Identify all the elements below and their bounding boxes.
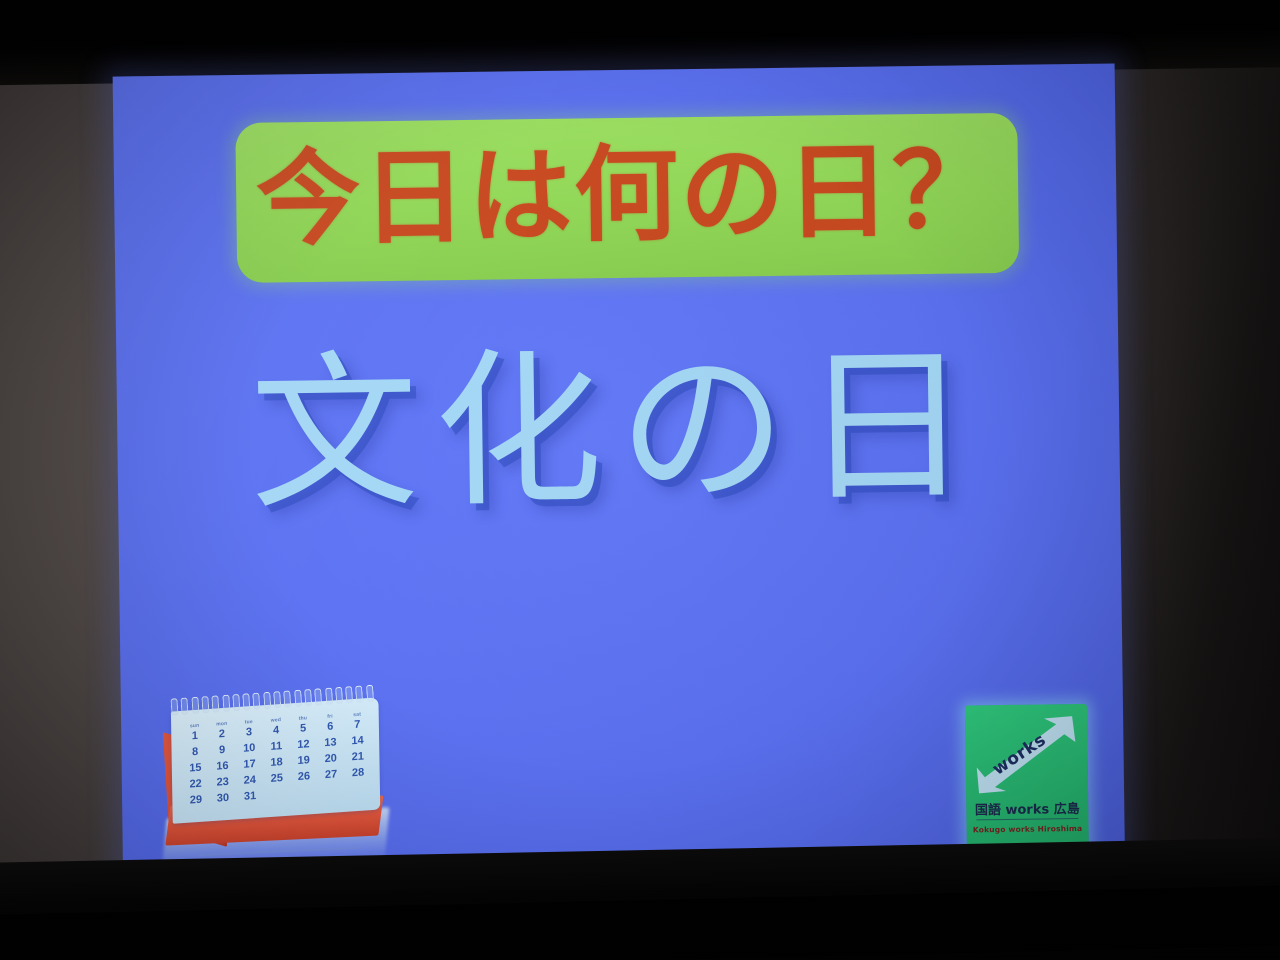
calendar-spiral-ring xyxy=(325,688,333,705)
calendar-day-number: 30 xyxy=(209,790,236,808)
logo-card: works 国語 works 広島 Kokugo works Hiroshima xyxy=(965,704,1089,854)
calendar-day-number: 23 xyxy=(209,774,236,792)
calendar-spiral-ring xyxy=(304,689,312,706)
calendar-day-number xyxy=(345,781,372,799)
calendar-spiral-ring xyxy=(355,685,363,702)
calendar-day-number: 5 xyxy=(290,721,317,739)
calendar-day-number: 20 xyxy=(317,751,344,769)
calendar-spiral-ring xyxy=(283,690,291,707)
calendar-day-number: 8 xyxy=(181,744,208,762)
calendar-day-number: 17 xyxy=(236,756,263,774)
calendar-spiral-ring xyxy=(366,685,374,702)
calendar-day-number: 22 xyxy=(182,776,209,794)
calendar-spiral-ring xyxy=(294,690,302,707)
calendar-day-number: 6 xyxy=(317,719,344,737)
calendar-day-number: 4 xyxy=(262,722,289,740)
calendar-day-number: 2 xyxy=(208,726,235,744)
calendar-spiral-ring xyxy=(222,695,230,712)
calendar-day-number: 31 xyxy=(236,788,263,806)
calendar-spiral-ring xyxy=(232,694,240,711)
calendar-day-number: 28 xyxy=(344,765,371,783)
calendar-day-number: 16 xyxy=(209,758,236,776)
calendar-day-number: 27 xyxy=(317,767,344,785)
logo-divider xyxy=(976,818,1078,820)
calendar-spiral-ring xyxy=(191,697,199,714)
main-heading-block: 文化の日 xyxy=(116,329,1120,530)
calendar-spiral-ring xyxy=(273,691,281,708)
calendar-spiral-ring xyxy=(345,686,353,703)
calendar-day-number: 9 xyxy=(209,742,236,760)
calendar-page: sunmontuewedthufrisat 123456789101112131… xyxy=(171,697,380,823)
calendar-day-number: 12 xyxy=(290,737,317,755)
calendar-spiral-ring xyxy=(314,688,322,705)
calendar-day-number: 7 xyxy=(344,717,371,735)
calendar-day-number: 13 xyxy=(317,735,344,753)
projection-screen: 今日は何の日？ 文化の日 sunmontuewedthufrisat 12345… xyxy=(113,63,1126,904)
calendar-day-number xyxy=(291,784,318,802)
calendar-day-number xyxy=(263,786,290,804)
calendar-spiral-ring xyxy=(253,692,261,709)
calendar-day-number: 26 xyxy=(290,768,317,786)
logo-japanese-name: 国語 works 広島 xyxy=(966,798,1088,819)
slide-title: 今日は何の日？ xyxy=(256,138,999,252)
calendar-day-number: 19 xyxy=(290,753,317,771)
calendar-day-number: 25 xyxy=(263,770,290,788)
logo-romaji-name: Kokugo works Hiroshima xyxy=(966,824,1088,835)
screenshot-root: 今日は何の日？ 文化の日 sunmontuewedthufrisat 12345… xyxy=(0,0,1280,960)
calendar-spiral-ring xyxy=(181,697,189,714)
calendar-day-number: 24 xyxy=(236,772,263,790)
calendar-day-number: 14 xyxy=(344,733,371,751)
calendar-day-number: 1 xyxy=(181,728,208,746)
calendar-day-number: 10 xyxy=(236,740,263,758)
main-heading-text: 文化の日 xyxy=(116,329,1120,530)
calendar-day-number: 11 xyxy=(263,738,290,756)
calendar-spiral-ring xyxy=(170,698,178,715)
calendar-spiral-ring xyxy=(201,696,209,713)
calendar-day-number: 29 xyxy=(182,792,209,810)
calendar-day-number: 21 xyxy=(344,749,371,767)
calendar-day-number xyxy=(318,783,345,801)
calendar-day-number: 15 xyxy=(182,760,209,778)
calendar-week-rows: 1234567891011121314151617181920212223242… xyxy=(181,717,372,810)
calendar-day-number: 18 xyxy=(263,754,290,772)
desk-calendar-icon: sunmontuewedthufrisat 123456789101112131… xyxy=(157,687,391,868)
calendar-spiral-ring xyxy=(335,687,343,704)
calendar-day-number: 3 xyxy=(235,724,262,742)
calendar-spiral-ring xyxy=(212,695,220,712)
title-banner: 今日は何の日？ xyxy=(235,113,1019,283)
calendar-spiral-ring xyxy=(263,692,271,709)
calendar-spiral-ring xyxy=(242,693,250,710)
